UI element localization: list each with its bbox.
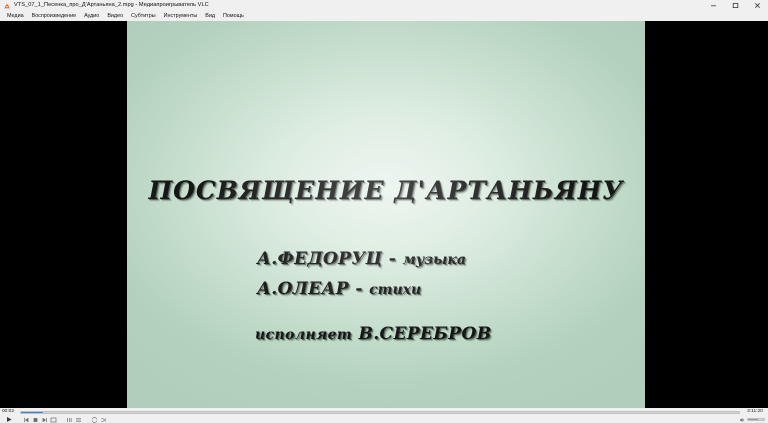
volume-icon[interactable] [738,416,746,423]
fullscreen-button[interactable] [49,416,57,423]
loop-button[interactable] [90,416,98,423]
menu-item-view[interactable]: Вид [201,11,219,21]
volume-slider[interactable] [747,418,765,421]
credit-name: А.ФЕДОРУЦ [257,249,382,269]
credit-line-performer: исполняет В.СЕРЕБРОВ [255,324,491,344]
window-controls [702,0,768,11]
performer-prefix: исполняет [255,327,352,343]
menu-item-subtitles[interactable]: Субтитры [127,11,160,21]
menu-item-playback[interactable]: Воспроизведение [28,11,81,21]
close-button[interactable] [746,0,768,11]
menu-item-help[interactable]: Помощь [219,11,248,21]
video-surface[interactable]: ПОСВЯЩЕНИЕ Д'АРТАНЬЯНУ А.ФЕДОРУЦ - музык… [127,21,645,408]
credit-dash: - [355,279,362,299]
total-time: 3:11:20 [744,408,766,416]
menu-item-video[interactable]: Видео [103,11,127,21]
stop-button[interactable] [31,416,39,423]
menu-item-audio[interactable]: Аудио [80,11,103,21]
minimize-button[interactable] [702,0,724,11]
shuffle-button[interactable] [99,416,107,423]
credit-name: А.ОЛЕАР [257,279,349,299]
credit-dash: - [389,249,396,269]
elapsed-time: 00:02 [0,408,16,416]
extended-settings-button[interactable] [65,416,73,423]
next-button[interactable] [40,416,48,423]
seek-slider[interactable] [16,408,744,416]
credit-line-composer: А.ФЕДОРУЦ - музыка [257,249,466,269]
video-title-card: ПОСВЯЩЕНИЕ Д'АРТАНЬЯНУ [127,176,645,205]
credit-role: музыка [403,252,466,268]
credit-role: стихи [369,282,421,298]
playlist-button[interactable] [74,416,82,423]
seek-row: 00:02 3:11:20 [0,408,768,416]
seek-fill [21,412,43,413]
performer-name: В.СЕРЕБРОВ [358,324,491,344]
volume-control[interactable] [738,416,765,423]
maximize-button[interactable] [724,0,746,11]
volume-fill [748,419,758,420]
video-stage[interactable]: ПОСВЯЩЕНИЕ Д'АРТАНЬЯНУ А.ФЕДОРУЦ - музык… [0,21,768,408]
play-button[interactable] [3,416,14,423]
vlc-window: VTS_07_1_Песенка_про_Д'Артаньяна_2.mpg -… [0,0,768,423]
title-bar: VTS_07_1_Песенка_про_Д'Артаньяна_2.mpg -… [0,0,768,11]
menu-item-media[interactable]: Медиа [3,11,28,21]
credit-line-lyricist: А.ОЛЕАР - стихи [257,279,421,299]
menu-item-tools[interactable]: Инструменты [160,11,202,21]
bottom-bar: 00:02 3:11:20 [0,408,768,423]
video-credits-overlay: ПОСВЯЩЕНИЕ Д'АРТАНЬЯНУ А.ФЕДОРУЦ - музык… [127,21,645,408]
seek-track[interactable] [20,411,740,414]
menu-bar: Медиа Воспроизведение Аудио Видео Субтит… [0,11,768,21]
previous-button[interactable] [22,416,30,423]
vlc-cone-icon [3,2,11,10]
window-title: VTS_07_1_Песенка_про_Д'Артаньяна_2.mpg -… [14,0,209,11]
control-row [0,416,768,423]
